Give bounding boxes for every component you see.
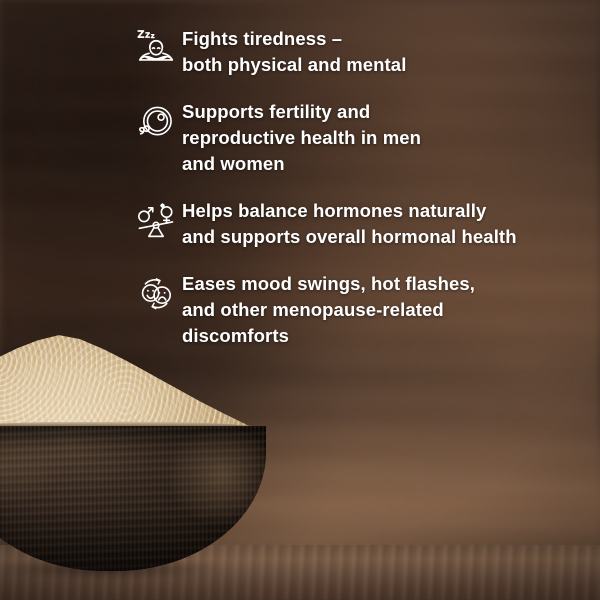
feature-text: Supports fertility and reproductive heal… — [182, 97, 592, 177]
list-item: Eases mood swings, hot flashes, and othe… — [130, 269, 592, 349]
list-item: Fights tiredness – both physical and men… — [130, 24, 592, 78]
promo-image: Fights tiredness – both physical and men… — [0, 0, 600, 600]
gender-symbols-balance-scale-icon — [130, 196, 182, 248]
sleeping-person-zzz-icon — [130, 24, 182, 76]
list-item: Helps balance hormones naturally and sup… — [130, 196, 592, 250]
feature-text: Helps balance hormones naturally and sup… — [182, 196, 592, 250]
feature-text: Eases mood swings, hot flashes, and othe… — [182, 269, 592, 349]
feature-list: Fights tiredness – both physical and men… — [130, 24, 592, 368]
feature-text: Fights tiredness – both physical and men… — [182, 24, 592, 78]
bowl-highlight — [0, 426, 266, 571]
list-item: Supports fertility and reproductive heal… — [130, 97, 592, 177]
egg-and-sperm-fertility-icon — [130, 97, 182, 149]
happy-sad-faces-mood-cycle-icon — [130, 269, 182, 321]
